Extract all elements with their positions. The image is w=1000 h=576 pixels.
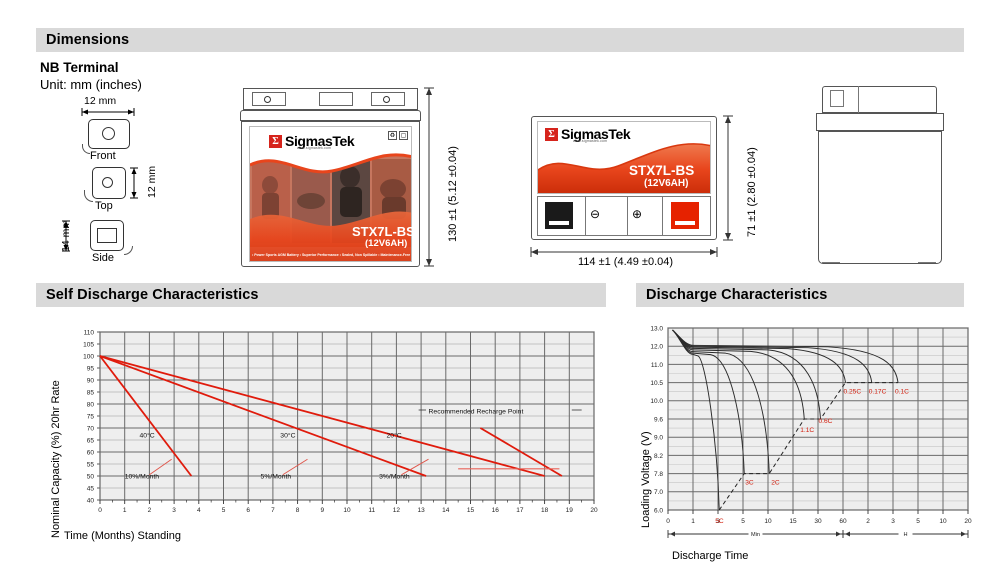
product-tagline-front: • Power Sports AGM Battery • Superior Pe…: [252, 253, 410, 257]
width-dimension-label: 114 ±1 (4.49 ±0.04): [578, 256, 673, 268]
sd-annotation: 5%/Month: [261, 473, 292, 480]
front-width-label: 12 mm: [84, 95, 116, 107]
model-spec-side: (12V6AH): [644, 178, 688, 189]
sd-ytick: 75: [87, 413, 95, 420]
sd-annotation: Recommended Recharge Point: [429, 409, 524, 416]
positive-post-slot: [675, 221, 695, 225]
dc-ytick: 12.0: [650, 344, 663, 351]
dc-xtick: 1: [691, 518, 695, 525]
top-height-label: 12 mm: [146, 166, 158, 198]
dc-xtick: 10: [764, 518, 772, 525]
sd-ytick: 100: [83, 353, 94, 360]
height-dimension-arrow: [424, 86, 434, 268]
dc-ytick: 11.0: [651, 362, 664, 369]
side-height-label: 14 mm: [60, 220, 72, 252]
top-view-caption: Top: [95, 200, 113, 212]
dc-curve-label: 2C: [771, 480, 780, 487]
sd-annotation: 20°C: [387, 432, 402, 440]
sd-xtick: 4: [197, 507, 201, 514]
dc-ytick: 6.0: [654, 507, 663, 514]
sd-xtick: 5: [222, 507, 226, 514]
sd-xtick: 10: [343, 507, 351, 514]
model-spec-front: (12V6AH): [365, 238, 407, 249]
dc-curve-label: 0.17C: [869, 389, 887, 396]
dc-curve-label: 0.25C: [844, 389, 862, 396]
dc-curve-label: 0.6C: [819, 418, 833, 425]
sd-xtick: 17: [516, 507, 524, 514]
lid-cell-2: [319, 92, 353, 106]
sd-xtick: 20: [590, 507, 598, 514]
sd-ytick: 40: [87, 497, 95, 504]
sd-ytick: 110: [84, 329, 95, 336]
top-height-arrow: [130, 166, 138, 200]
dc-curve-label: 1.1C: [800, 427, 814, 434]
model-number-side: STX7L-BS: [629, 163, 694, 178]
dc-ytick: 8.2: [654, 453, 663, 460]
sd-annotation: 40°C: [140, 432, 155, 440]
discharge-chart: Loading Voltage (V) Discharge Time 13.01…: [628, 318, 990, 568]
sd-ytick: 85: [87, 389, 95, 396]
dc-xtick: 30: [814, 518, 822, 525]
dc-xtick: 20: [964, 518, 972, 525]
unit-label: Unit: mm (inches): [40, 77, 142, 92]
dc-xtick: 10: [939, 518, 947, 525]
side-inner-rect: [97, 228, 117, 243]
sd-ytick: 50: [87, 473, 95, 480]
sd-xtick: 19: [566, 507, 574, 514]
sd-annotation: 30°C: [280, 432, 295, 440]
sd-xtick: 7: [271, 507, 275, 514]
negative-symbol-icon: ⊖: [590, 207, 600, 221]
blank-foot-right: [918, 259, 936, 263]
sd-xtick: 14: [442, 507, 450, 514]
sd-ytick: 55: [87, 461, 95, 468]
depth-dimension-arrow: [723, 114, 733, 242]
dc-curve-label: 0.1C: [895, 389, 909, 396]
blank-lid-divider: [858, 86, 859, 113]
front-tail-line: [82, 144, 90, 154]
dc-ytick: 13.0: [650, 325, 663, 332]
dc-curve-label: 3C: [745, 480, 754, 487]
sd-xtick: 8: [296, 507, 300, 514]
depth-dimension-label: 71 ±1 (2.80 ±0.04): [746, 147, 758, 237]
sd-xtick: 0: [98, 507, 102, 514]
battery-collar: [240, 110, 421, 121]
model-number-front: STX7L-BS: [352, 224, 415, 239]
terminal-deck: ⊖ ⊕: [537, 196, 711, 236]
dc-xtick: 5: [741, 518, 745, 525]
blank-body: [818, 131, 942, 264]
recycle-icon: ♻: [388, 131, 397, 140]
section-header-discharge: Discharge Characteristics: [636, 283, 964, 307]
sd-ytick: 90: [87, 377, 95, 384]
section-header-self-discharge: Self Discharge Characteristics: [36, 283, 606, 307]
dc-xtick: 15: [789, 518, 797, 525]
sd-xtick: 15: [467, 507, 475, 514]
sd-xtick: 12: [393, 507, 401, 514]
top-tail-line: [84, 190, 93, 202]
dc-curve-label: 5C: [715, 518, 724, 525]
dc-xtick: 5: [916, 518, 920, 525]
sd-xtick: 11: [368, 507, 375, 514]
sd-ytick: 95: [87, 365, 95, 372]
front-hole-icon: [102, 127, 115, 140]
lid-vent-icon-1: [264, 96, 271, 103]
sd-ytick: 45: [87, 485, 95, 492]
height-dimension-label: 130 ±1 (5.12 ±0.04): [447, 146, 459, 242]
sd-xtick: 3: [172, 507, 176, 514]
lid-vent-icon-2: [383, 96, 390, 103]
section-header-dimensions: Dimensions: [36, 28, 964, 52]
deck-divider-2: [627, 196, 628, 236]
deck-divider-1: [585, 196, 586, 236]
sd-xtick: 13: [417, 507, 425, 514]
sd-xtick: 18: [541, 507, 549, 514]
nb-terminal-title: NB Terminal: [40, 60, 119, 75]
blank-vent-slot: [830, 90, 844, 107]
sigmas-logo-icon-side: Σ: [545, 128, 558, 141]
sd-xtick: 16: [492, 507, 500, 514]
sd-ytick: 60: [87, 449, 95, 456]
brand-url-side: www.sigmastek.com: [573, 139, 607, 143]
dc-xtick: 2: [866, 518, 870, 525]
dc-ytick: 10.0: [650, 398, 663, 405]
dc-range-unit: H: [903, 532, 907, 538]
sd-ytick: 70: [87, 425, 95, 432]
deck-divider-3: [662, 196, 663, 236]
sd-plot-svg: 4045505560657075808590951001051100123456…: [36, 318, 606, 528]
self-discharge-chart: Nominal Capacity (%) 20hr Rate Time (Mon…: [36, 318, 606, 548]
dc-ytick: 7.0: [654, 489, 663, 496]
side-tail-line: [124, 246, 133, 255]
dc-range-unit: Min: [751, 532, 760, 538]
sd-ytick: 80: [87, 401, 95, 408]
top-hole-icon: [102, 177, 113, 188]
side-view-caption: Side: [92, 252, 114, 264]
sd-xtick: 9: [320, 507, 324, 514]
blank-collar: [816, 113, 944, 131]
dc-x-axis-title: Discharge Time: [672, 550, 748, 562]
pb-lead-icon: ▢: [399, 131, 408, 140]
sd-x-axis-title: Time (Months) Standing: [64, 530, 181, 542]
blank-foot-left: [822, 259, 840, 263]
sd-xtick: 1: [123, 507, 127, 514]
front-width-arrow: [80, 108, 136, 116]
sigmas-logo-icon: Σ: [269, 135, 282, 148]
positive-symbol-icon: ⊕: [632, 207, 642, 221]
sd-xtick: 6: [246, 507, 250, 514]
dc-plot-svg: 13.012.011.010.510.09.69.08.27.87.06.001…: [628, 318, 990, 548]
front-view-caption: Front: [90, 150, 116, 162]
sd-annotation: 3%/Month: [379, 473, 410, 480]
dc-ytick: 7.8: [654, 471, 663, 478]
dc-xtick: 0: [666, 518, 670, 525]
sd-annotation: 10%/Month: [125, 473, 160, 480]
spec-sheet-page: Dimensions NB Terminal Unit: mm (inches)…: [0, 0, 1000, 576]
brand-url-front: www.sigmastek.com: [297, 146, 331, 150]
sd-ytick: 65: [87, 437, 95, 444]
negative-post-slot: [549, 221, 569, 225]
sd-ytick: 105: [83, 341, 94, 348]
dc-ytick: 9.0: [654, 435, 663, 442]
dc-ytick: 10.5: [650, 380, 663, 387]
sd-xtick: 2: [148, 507, 152, 514]
dc-ytick: 9.6: [654, 416, 663, 423]
dc-xtick: 60: [839, 518, 847, 525]
dc-xtick: 3: [891, 518, 895, 525]
